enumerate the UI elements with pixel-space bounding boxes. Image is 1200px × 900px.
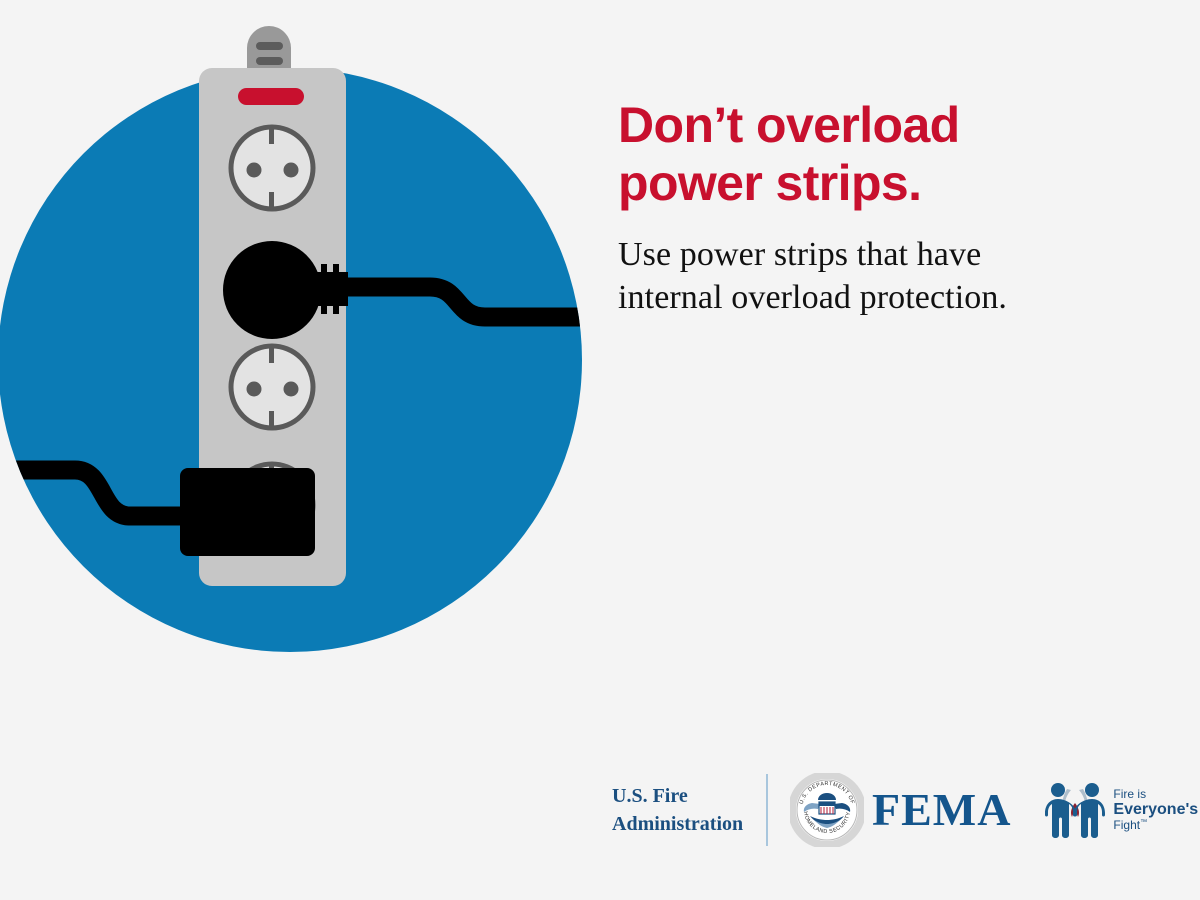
fire-is-everyones-fight-icon: [1041, 779, 1109, 841]
page-title: Don’t overload power strips.: [618, 96, 1158, 212]
overloaded-power-strip-illustration: [0, 0, 600, 700]
power-socket-third[interactable]: [231, 346, 313, 428]
psa-poster: Don’t overload power strips. Use power s…: [0, 0, 1200, 900]
power-indicator-light: [238, 88, 304, 105]
trademark-symbol: ™: [1140, 819, 1147, 826]
block-adapter-plug: [180, 468, 315, 556]
footer-logo-lockup: U.S. Fire Administration U.S. DEPARTMENT…: [612, 770, 1198, 850]
feif-line-3: Fight™: [1113, 819, 1198, 832]
usfa-wordmark: U.S. Fire Administration: [612, 782, 766, 838]
feif-line-3-label: Fight: [1113, 818, 1140, 832]
fire-is-everyones-fight-text: Fire is Everyone's Fight™: [1113, 788, 1198, 833]
subhead-text: Use power strips that have internal over…: [618, 234, 1158, 320]
lockup-divider: [766, 774, 768, 846]
dhs-seal-icon: U.S. DEPARTMENT OF HOMELAND SECURITY: [790, 773, 864, 847]
power-socket-top[interactable]: [231, 127, 313, 209]
fema-wordmark: FEMA: [872, 787, 1011, 833]
feif-line-2: Everyone's: [1113, 801, 1198, 819]
fire-is-everyones-fight-logo: Fire is Everyone's Fight™: [1041, 779, 1198, 841]
power-strip-switch[interactable]: [247, 26, 291, 70]
copy-block: Don’t overload power strips. Use power s…: [618, 96, 1158, 320]
feif-line-1: Fire is: [1113, 788, 1198, 801]
